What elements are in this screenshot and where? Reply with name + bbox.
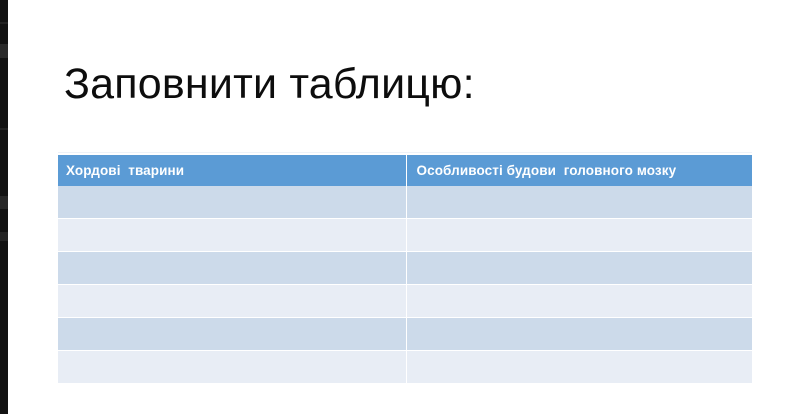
table-body	[58, 186, 752, 383]
column-header-brain-structure: Особливості будови головного мозку	[406, 155, 752, 186]
table-cell-chordates[interactable]	[58, 351, 406, 384]
table-row[interactable]	[58, 285, 752, 318]
edge-smudge	[0, 196, 8, 209]
chordates-brain-table: Хордові тварини Особливості будови голов…	[58, 155, 752, 383]
edge-smudge	[0, 128, 8, 130]
column-header-chordates: Хордові тварини	[58, 155, 406, 186]
table-cell-chordates[interactable]	[58, 219, 406, 252]
table-row[interactable]	[58, 351, 752, 384]
table-cell-brain-structure[interactable]	[406, 186, 752, 219]
table-cell-chordates[interactable]	[58, 252, 406, 285]
edge-smudge	[0, 44, 8, 58]
table-row[interactable]	[58, 219, 752, 252]
table-cell-chordates[interactable]	[58, 318, 406, 351]
table-header: Хордові тварини Особливості будови голов…	[58, 155, 752, 186]
adjacent-page-edge-strip	[0, 0, 8, 414]
table-row[interactable]	[58, 318, 752, 351]
table-cell-chordates[interactable]	[58, 186, 406, 219]
slide-canvas: Заповнити таблицю: Хордові тварини Особл…	[0, 0, 794, 414]
table-row[interactable]	[58, 186, 752, 219]
table-cell-brain-structure[interactable]	[406, 318, 752, 351]
edge-smudge	[0, 22, 8, 24]
edge-smudge	[0, 232, 8, 241]
page-title: Заповнити таблицю:	[64, 58, 475, 110]
table-cell-brain-structure[interactable]	[406, 252, 752, 285]
table-header-row: Хордові тварини Особливості будови голов…	[58, 155, 752, 186]
table-cell-brain-structure[interactable]	[406, 285, 752, 318]
table-top-hairline	[58, 152, 752, 153]
table-row[interactable]	[58, 252, 752, 285]
table-cell-brain-structure[interactable]	[406, 219, 752, 252]
table-cell-chordates[interactable]	[58, 285, 406, 318]
table-cell-brain-structure[interactable]	[406, 351, 752, 384]
